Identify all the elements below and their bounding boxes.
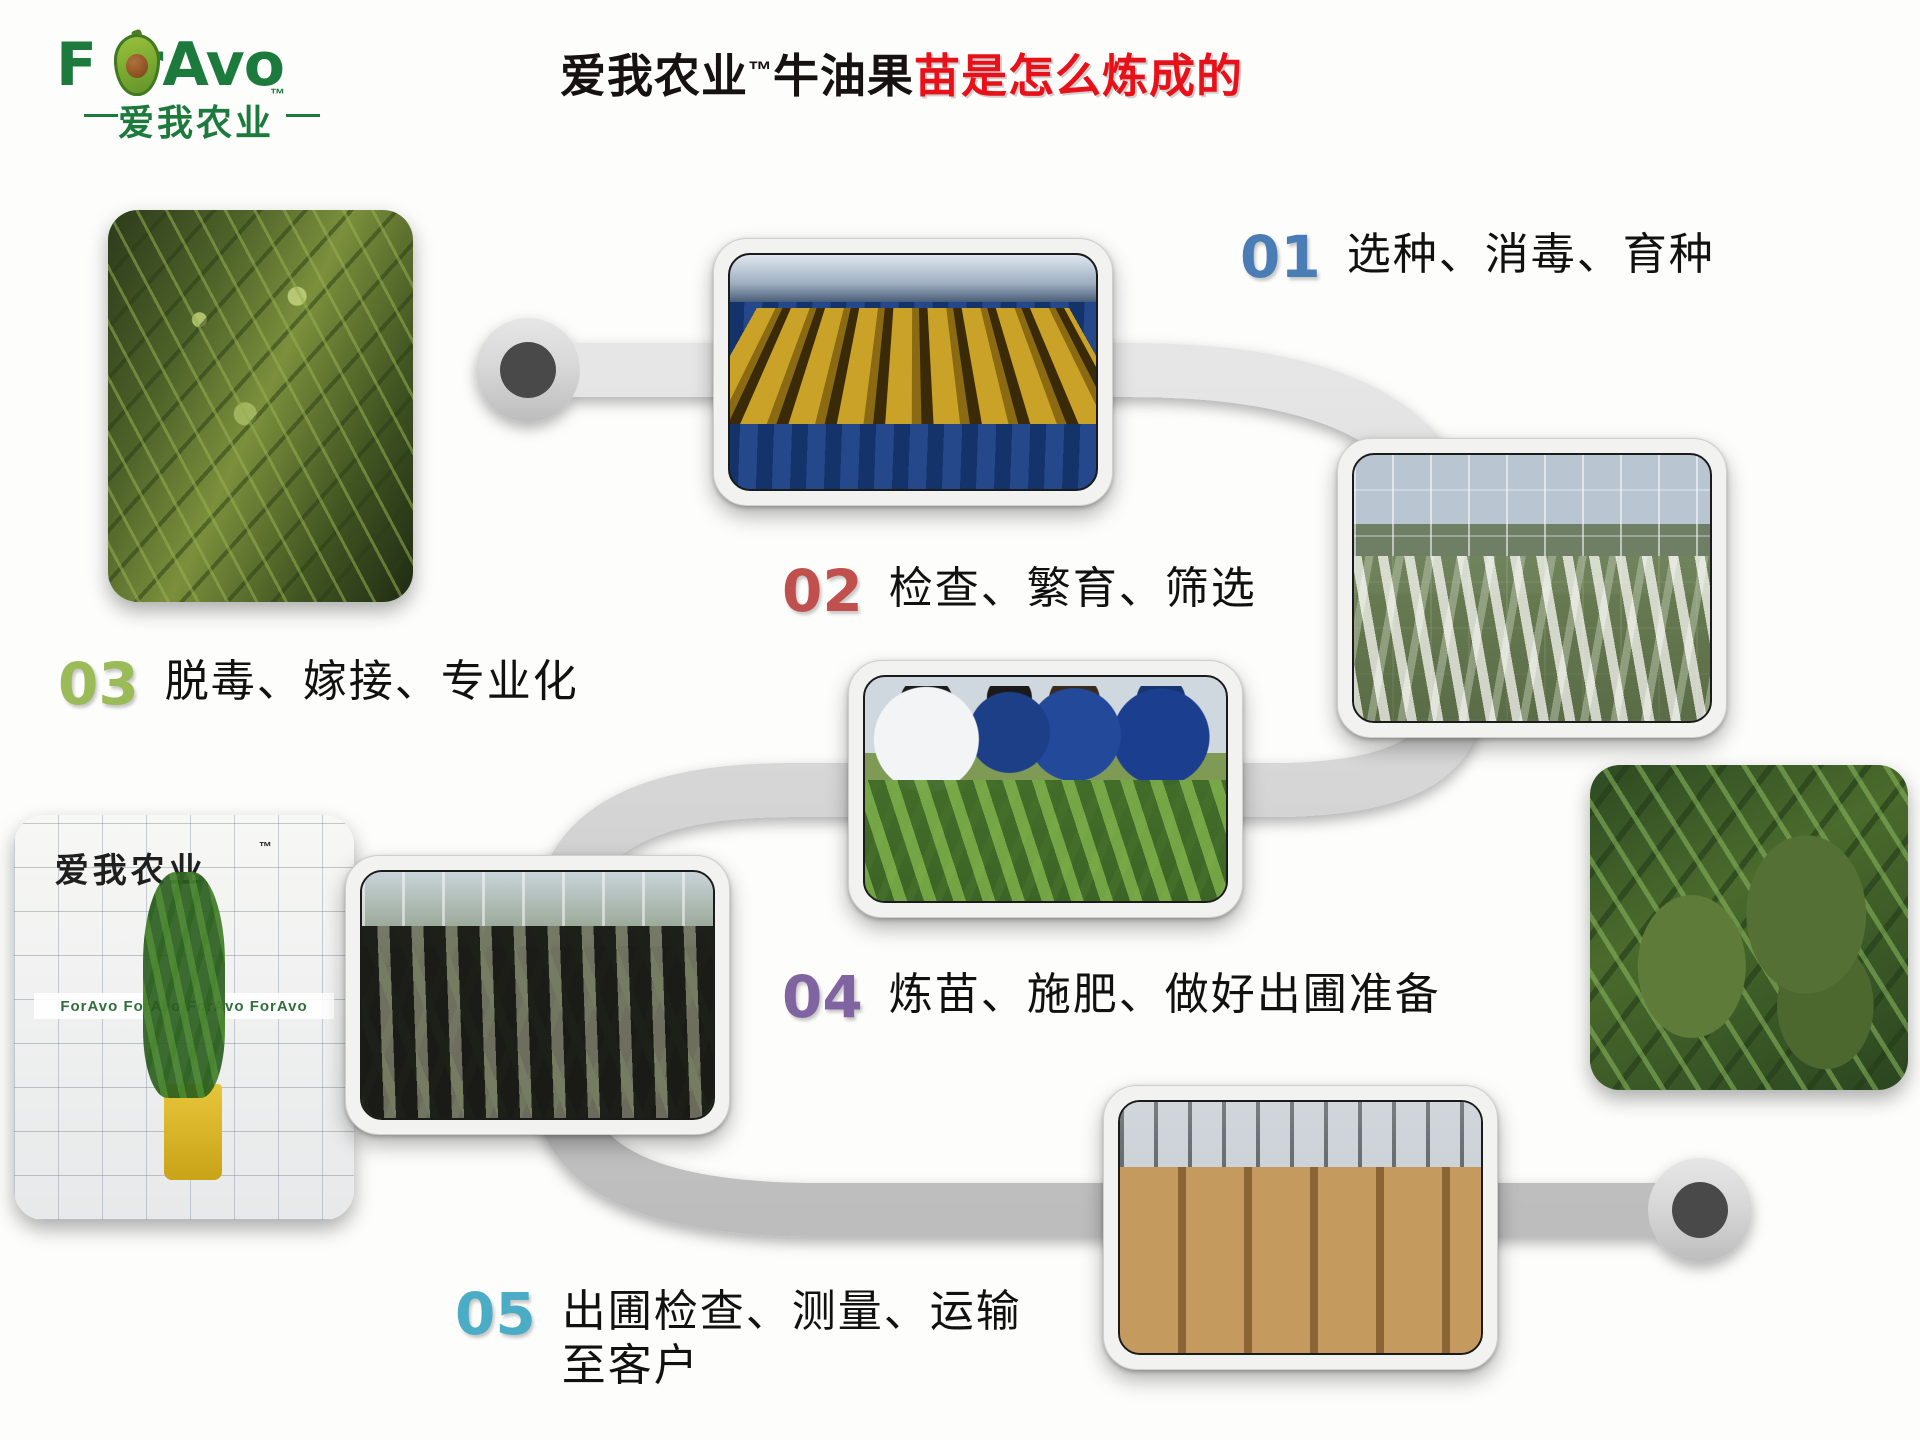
seed-germination-trays-photo[interactable] bbox=[713, 238, 1113, 506]
step-05: 05 出圃检查、测量、运输 至客户 bbox=[455, 1285, 1022, 1392]
infographic-canvas: ForAvo 爱我农业 ™ 爱我农业™牛油果苗是怎么炼成的 bbox=[0, 0, 1920, 1440]
step-05-number: 05 bbox=[455, 1285, 536, 1343]
step-03-text: 脱毒、嫁接、专业化 bbox=[165, 655, 579, 709]
photo-surface bbox=[1352, 453, 1712, 723]
board-foravo-band: ForAvo ForAvo ForAvo ForAvo bbox=[34, 993, 333, 1019]
photo-surface bbox=[1590, 765, 1908, 1090]
photo-surface bbox=[360, 870, 715, 1120]
step-01-number: 01 bbox=[1240, 228, 1321, 286]
potted-seedlings-photo[interactable] bbox=[345, 855, 730, 1135]
photo-surface: 爱我农业 bbox=[1118, 1100, 1483, 1355]
step-04-number: 04 bbox=[782, 968, 863, 1026]
packing-boxes-photo[interactable]: 爱我农业 bbox=[1103, 1085, 1498, 1370]
box-plants bbox=[1134, 1167, 1466, 1232]
step-03: 03 脱毒、嫁接、专业化 bbox=[58, 655, 579, 713]
step-02: 02 检查、繁育、筛选 bbox=[782, 562, 1257, 620]
step-03-number: 03 bbox=[58, 655, 139, 713]
inspection-team-photo[interactable]: 海南爱我农业科技有限公司 bbox=[848, 660, 1243, 918]
step-01: 01 选种、消毒、育种 bbox=[1240, 228, 1715, 286]
photo-surface bbox=[108, 210, 413, 602]
photo-surface: 爱我农业 ™ ForAvo ForAvo ForAvo ForAvo bbox=[14, 815, 354, 1220]
photo-watermark: 海南爱我农业科技有限公司 bbox=[1086, 879, 1218, 895]
photo-surface bbox=[728, 253, 1098, 491]
step-02-text: 检查、繁育、筛选 bbox=[889, 562, 1257, 616]
step-04-text: 炼苗、施肥、做好出圃准备 bbox=[889, 968, 1441, 1022]
grafting-greenhouse-photo[interactable] bbox=[1337, 438, 1727, 738]
step-01-text: 选种、消毒、育种 bbox=[1347, 228, 1715, 282]
step-04: 04 炼苗、施肥、做好出圃准备 bbox=[782, 968, 1441, 1026]
yellow-pot bbox=[164, 1084, 222, 1180]
board-trademark-symbol: ™ bbox=[259, 839, 272, 854]
avocado-fruit-tree-photo[interactable] bbox=[1590, 765, 1908, 1090]
box-brand-label: 爱我农业 bbox=[1171, 1300, 1227, 1318]
step-02-number: 02 bbox=[782, 562, 863, 620]
avocado-flower-photo[interactable] bbox=[108, 210, 413, 602]
photo-surface: 海南爱我农业科技有限公司 bbox=[863, 675, 1228, 903]
board-brand-text: 爱我农业 bbox=[55, 843, 207, 892]
seedling-measurement-photo[interactable]: 爱我农业 ™ ForAvo ForAvo ForAvo ForAvo bbox=[14, 815, 354, 1220]
step-05-text: 出圃检查、测量、运输 至客户 bbox=[562, 1285, 1022, 1392]
